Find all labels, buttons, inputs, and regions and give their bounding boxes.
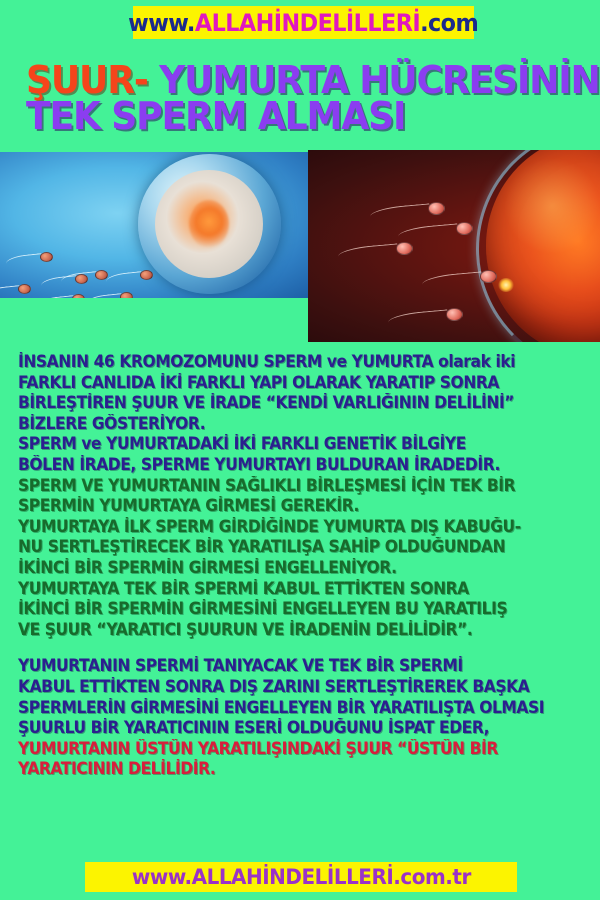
headline-line-2: TEK SPERM ALMASI — [26, 98, 558, 134]
body-line: KABUL ETTİKTEN SONRA DIŞ ZARINI SERTLEŞT… — [18, 677, 561, 698]
photo-strip — [0, 150, 600, 342]
top-url-domain: ALLAHİNDELİLLERİ — [195, 9, 420, 37]
top-url-suffix: .com — [420, 9, 478, 37]
headline: ŞUUR- YUMURTA HÜCRESİNİN TEK SPERM ALMAS… — [26, 62, 586, 134]
sperm-head-icon — [446, 308, 463, 321]
sperm-tail-icon — [398, 223, 459, 241]
body-line: YUMURTAYA TEK BİR SPERMİ KABUL ETTİKTEN … — [18, 579, 561, 600]
sperm-tail-icon — [61, 271, 98, 286]
body-line: BÖLEN İRADE, SPERME YUMURTAYI BULDURAN İ… — [18, 455, 561, 476]
sperm-head-icon — [396, 242, 413, 255]
headline-line-1: ŞUUR- YUMURTA HÜCRESİNİN — [26, 62, 558, 98]
sperm-head-icon — [456, 222, 473, 235]
sperm-tail-icon — [370, 203, 431, 221]
body-line: BİRLEŞTİREN ŞUUR VE İRADE “KENDİ VARLIĞI… — [18, 393, 561, 414]
body-line: İNSANIN 46 KROMOZOMUNU SPERM ve YUMURTA … — [18, 352, 561, 373]
egg-cell-cytoplasm — [155, 170, 263, 278]
body-line: BİZLERE GÖSTERİYOR. — [18, 414, 561, 435]
body-line: VE ŞUUR “YARATICI ŞUURUN VE İRADENİN DEL… — [18, 620, 561, 641]
body-line: YUMURTANIN ÜSTÜN YARATILIŞINDAKİ ŞUUR “Ü… — [18, 739, 561, 760]
body-line: NU SERTLEŞTİRECEK BİR YARATILIŞA SAHİP O… — [18, 537, 561, 558]
paragraph-2: SPERM VE YUMURTANIN SAĞLIKLI BİRLEŞMESİ … — [18, 476, 596, 641]
body-line: YUMURTAYA İLK SPERM GİRDİĞİNDE YUMURTA D… — [18, 517, 561, 538]
footer-url-text: www.ALLAHİNDELİLLERİ.com.tr — [132, 865, 471, 889]
sperm-tail-icon — [38, 295, 75, 298]
body-line: SPERM VE YUMURTANIN SAĞLIKLI BİRLEŞMESİ … — [18, 476, 561, 497]
sperm-head-icon — [40, 252, 53, 262]
body-line: İKİNCİ BİR SPERMİN GİRMESİNİ ENGELLEYEN … — [18, 599, 561, 620]
body-line: FARKLI CANLIDA İKİ FARKLI YAPI OLARAK YA… — [18, 373, 561, 394]
photo-ovum-fertilization-red — [308, 150, 600, 342]
sperm-tail-icon — [86, 293, 123, 298]
sperm-tail-icon — [338, 243, 399, 261]
sperm-head-icon — [140, 270, 153, 280]
sperm-head-icon — [428, 202, 445, 215]
sperm-tail-icon — [6, 253, 43, 268]
paragraph-4: YUMURTANIN ÜSTÜN YARATILIŞINDAKİ ŞUUR “Ü… — [18, 739, 596, 780]
photo-egg-cell-blue — [0, 152, 308, 298]
paragraph-spacer — [18, 640, 596, 656]
sperm-tail-icon — [0, 285, 20, 298]
body-line: YUMURTANIN SPERMİ TANIYACAK VE TEK BİR S… — [18, 656, 561, 677]
body-line: SPERMLERİN GİRMESİNİ ENGELLEYEN BİR YARA… — [18, 698, 561, 719]
footer-url-banner: www.ALLAHİNDELİLLERİ.com.tr — [85, 862, 517, 892]
sperm-head-icon — [75, 274, 88, 284]
body-line: ŞUURLU BİR YARATICININ ESERİ OLDUĞUNU İS… — [18, 718, 561, 739]
body-line: İKİNCİ BİR SPERMİN GİRMESİ ENGELLENİYOR. — [18, 558, 561, 579]
body-line: SPERMİN YUMURTAYA GİRMESİ GEREKİR. — [18, 496, 561, 517]
paragraph-1: İNSANIN 46 KROMOZOMUNU SPERM ve YUMURTA … — [18, 352, 596, 476]
egg-cell-nucleus — [189, 200, 229, 248]
ovum-zona-pellucida — [476, 150, 600, 342]
sperm-tail-icon — [41, 275, 78, 290]
body-text: İNSANIN 46 KROMOZOMUNU SPERM ve YUMURTA … — [18, 352, 596, 780]
sperm-tail-icon — [388, 309, 449, 327]
sperm-head-icon — [18, 284, 31, 294]
fertilization-spark-icon — [498, 278, 514, 292]
top-url-prefix: www. — [129, 9, 196, 37]
top-url-text: www.ALLAHİNDELİLLERİ.com — [129, 9, 479, 37]
sperm-tail-icon — [422, 271, 483, 289]
egg-cell-outer-shell — [138, 154, 281, 294]
body-line: SPERM ve YUMURTADAKİ İKİ FARKLI GENETİK … — [18, 434, 561, 455]
body-line: YARATICININ DELİLİDİR. — [18, 759, 561, 780]
sperm-head-icon — [72, 294, 85, 298]
paragraph-3: YUMURTANIN SPERMİ TANIYACAK VE TEK BİR S… — [18, 656, 596, 738]
top-url-banner: www.ALLAHİNDELİLLERİ.com — [133, 6, 474, 39]
sperm-head-icon — [120, 292, 133, 298]
sperm-tail-icon — [106, 271, 143, 286]
sperm-head-icon — [95, 270, 108, 280]
